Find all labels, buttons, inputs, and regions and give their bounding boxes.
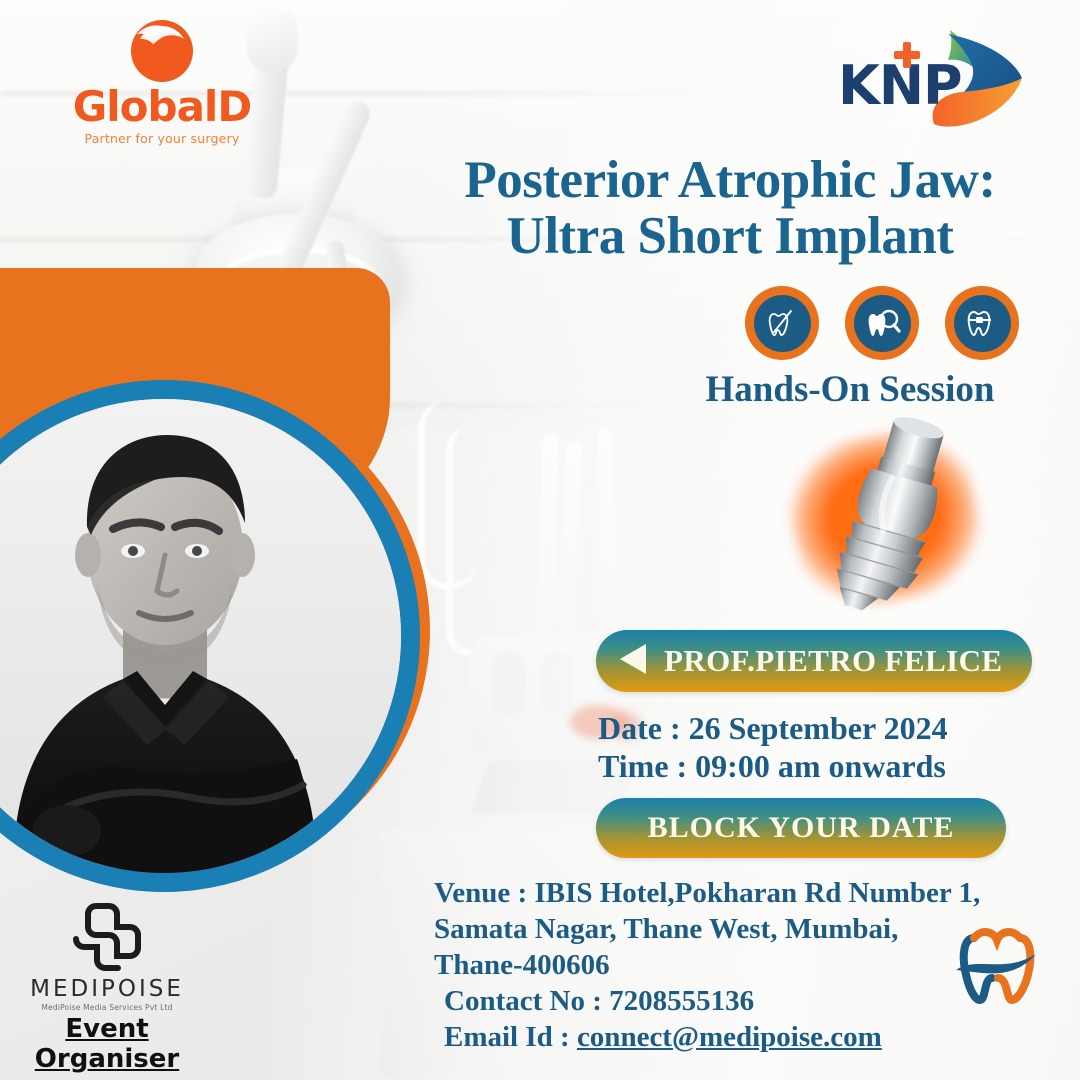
page-title: Posterior Atrophic Jaw: Ultra Short Impl… bbox=[400, 152, 1060, 264]
email-row: Email Id : connect@medipoise.com bbox=[434, 1020, 1054, 1056]
speaker-name: PROF.PIETRO FELICE bbox=[664, 643, 1003, 679]
block-your-date-button[interactable]: BLOCK YOUR DATE bbox=[596, 798, 1006, 858]
tooth-probe-icon bbox=[745, 286, 819, 360]
email-label: Email Id : bbox=[444, 1021, 577, 1053]
organiser-name: MEDIPOISE bbox=[14, 976, 200, 1002]
globald-wordmark: GlobalD bbox=[52, 86, 272, 128]
title-line-1: Posterior Atrophic Jaw: bbox=[464, 151, 995, 209]
medical-plus-icon bbox=[894, 42, 920, 68]
knp-logo: KNP bbox=[838, 28, 1038, 128]
event-time: Time : 09:00 am onwards bbox=[598, 748, 1038, 786]
globald-logo: GlobalD Partner for your surgery bbox=[52, 18, 272, 146]
event-flyer: GlobalD Partner for your surgery KNP bbox=[0, 0, 1080, 1080]
medipoise-cross-icon bbox=[70, 900, 144, 974]
globald-swirl-icon bbox=[129, 18, 195, 84]
dental-icon-row bbox=[745, 286, 1019, 360]
tooth-magnifier-icon bbox=[845, 286, 919, 360]
dental-implant-screw-icon bbox=[792, 414, 992, 628]
cta-label: BLOCK YOUR DATE bbox=[648, 811, 955, 845]
speaker-name-banner[interactable]: PROF.PIETRO FELICE bbox=[596, 630, 1032, 692]
email-address[interactable]: connect@medipoise.com bbox=[577, 1021, 882, 1053]
organiser-tagline: MediPoise Media Services Pvt Ltd bbox=[14, 1003, 200, 1012]
organiser-role: Event Organiser bbox=[14, 1014, 200, 1074]
left-triangle-icon bbox=[618, 642, 648, 681]
tooth-braces-icon bbox=[945, 286, 1019, 360]
tooth-swoosh-icon bbox=[950, 920, 1042, 1008]
organiser-logo-block: MEDIPOISE MediPoise Media Services Pvt L… bbox=[14, 900, 200, 1074]
session-type-label: Hands-On Session bbox=[640, 368, 1060, 411]
globald-tagline: Partner for your surgery bbox=[52, 131, 272, 146]
venue-line-1: Venue : IBIS Hotel,Pokharan Rd Number 1, bbox=[434, 876, 1054, 912]
schedule-block: Date : 26 September 2024 Time : 09:00 am… bbox=[598, 710, 1038, 786]
title-line-2: Ultra Short Implant bbox=[400, 208, 1060, 264]
event-date: Date : 26 September 2024 bbox=[598, 710, 1038, 748]
